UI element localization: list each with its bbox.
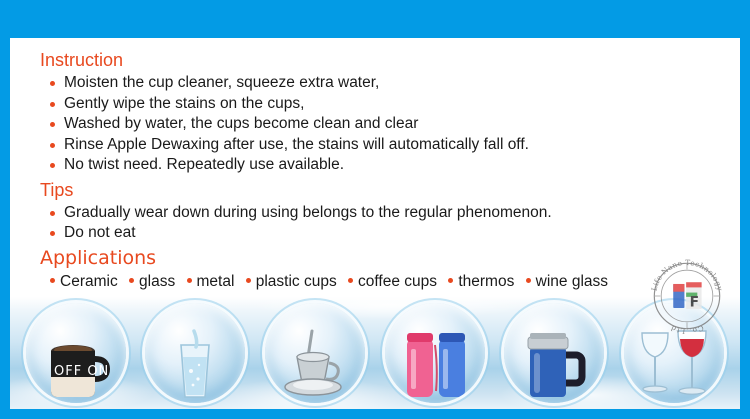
play-triangle-icon[interactable] — [720, 10, 732, 24]
bullet-dot-icon — [129, 278, 134, 283]
product-bubble-water-glass — [145, 303, 245, 403]
list-item: No twist need. Repeatedly use available. — [40, 155, 740, 176]
header-bar: Instructions — [0, 0, 750, 34]
instruction-list: Moisten the cup cleaner, squeeze extra w… — [40, 73, 740, 176]
company-seal-watermark: Life Nano Technology Co.,Ltd F — [644, 253, 730, 339]
bullet-dot-icon — [246, 278, 251, 283]
bullet-dot-icon — [526, 278, 531, 283]
section-heading-instruction: Instruction — [40, 48, 740, 73]
bullet-dot-icon — [348, 278, 353, 283]
page-title: Instructions — [24, 5, 146, 29]
product-bubbles: OFF ON — [10, 297, 740, 409]
application-item: plastic cups — [246, 273, 337, 290]
application-item: thermos — [448, 273, 514, 290]
section-heading-tips: Tips — [40, 178, 740, 203]
svg-text:OFF ON: OFF ON — [54, 364, 109, 379]
application-item: wine glass — [526, 273, 608, 290]
application-item: metal — [187, 273, 235, 290]
list-item: Washed by water, the cups become clean a… — [40, 114, 740, 135]
application-item: coffee cups — [348, 273, 437, 290]
tips-list: Gradually wear down during using belongs… — [40, 203, 740, 244]
bullet-dot-icon — [448, 278, 453, 283]
product-bubble-ceramic-mug: OFF ON — [26, 303, 126, 403]
list-item: Gently wipe the stains on the cups, — [40, 94, 740, 115]
content-card: Instruction Moisten the cup cleaner, squ… — [10, 38, 740, 409]
svg-text:F: F — [690, 294, 699, 310]
slide-root: Instructions Instruction Moisten the cup… — [0, 0, 750, 419]
product-bubble-plastic-bottles — [385, 303, 485, 403]
list-item: Do not eat — [40, 223, 740, 244]
list-item: Rinse Apple Dewaxing after use, the stai… — [40, 135, 740, 156]
product-bubble-metal-cup-saucer — [265, 303, 365, 403]
instructions-content: Instruction Moisten the cup cleaner, squ… — [10, 38, 740, 293]
bullet-dot-icon — [187, 278, 192, 283]
applications-list: Ceramic glass metal plastic cups coffee … — [40, 271, 740, 293]
section-heading-applications: Applications — [40, 246, 740, 271]
product-bubble-blue-thermos-mug — [504, 303, 604, 403]
bullet-dot-icon — [50, 278, 55, 283]
product-image-strip: OFF ON — [10, 297, 740, 409]
list-item: Gradually wear down during using belongs… — [40, 203, 740, 224]
application-item: glass — [129, 273, 175, 290]
application-item: Ceramic — [50, 273, 118, 290]
list-item: Moisten the cup cleaner, squeeze extra w… — [40, 73, 740, 94]
